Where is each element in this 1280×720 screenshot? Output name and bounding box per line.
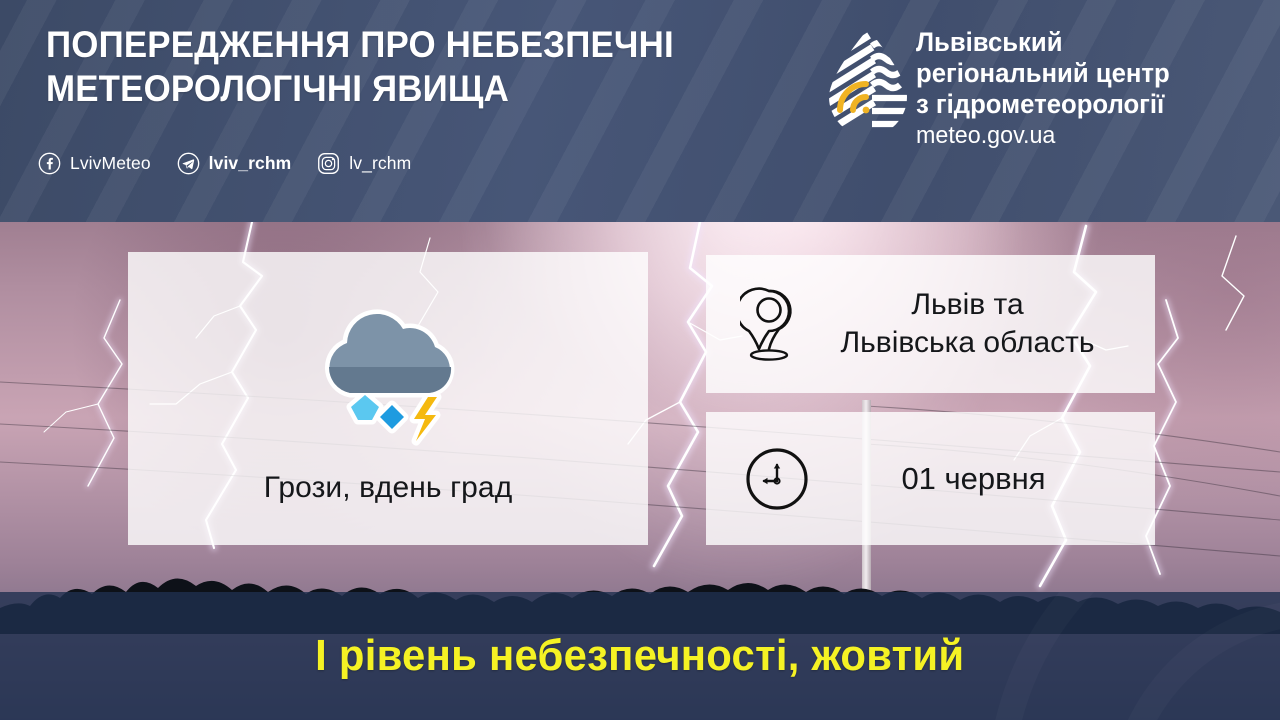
- map-pin-icon: [740, 285, 798, 363]
- date-value: 01 червня: [810, 460, 1137, 498]
- organization-name: Львівський регіональний центр з гідромет…: [916, 27, 1256, 151]
- warning-date: 01 червня: [810, 460, 1155, 498]
- facebook-icon: [38, 152, 61, 175]
- social-handle-telegram: lviv_rchm: [209, 153, 292, 174]
- social-handle-facebook: LvivMeteo: [70, 153, 151, 174]
- social-link-telegram[interactable]: lviv_rchm: [177, 152, 292, 175]
- title-line-2: МЕТЕОРОЛОГІЧНІ ЯВИЩА: [46, 66, 753, 110]
- org-line-3: з гідрометеорології: [916, 89, 1256, 120]
- page-title: ПОПЕРЕДЖЕННЯ ПРО НЕБЕЗПЕЧНІ МЕТЕОРОЛОГІЧ…: [46, 22, 753, 110]
- social-links: LvivMeteo lviv_rchm lv_rchm: [38, 152, 437, 175]
- telegram-icon: [177, 152, 200, 175]
- danger-level-banner: І рівень небезпечності, жовтий: [0, 592, 1280, 720]
- org-line-2: регіональний центр: [916, 58, 1256, 89]
- instagram-icon: [317, 152, 340, 175]
- thunderstorm-hail-icon: [288, 301, 488, 449]
- org-line-1: Львівський: [916, 27, 1256, 58]
- weather-warning-infographic: ПОПЕРЕДЖЕННЯ ПРО НЕБЕЗПЕЧНІ МЕТЕОРОЛОГІЧ…: [0, 0, 1280, 720]
- social-link-facebook[interactable]: LvivMeteo: [38, 152, 151, 175]
- region-name: Львів та Львівська область: [798, 286, 1155, 362]
- date-card: 01 червня: [706, 412, 1155, 545]
- danger-level-text: І рівень небезпечності, жовтий: [315, 631, 964, 681]
- social-link-instagram[interactable]: lv_rchm: [317, 152, 411, 175]
- hydrometeorological-droplet-logo: [822, 26, 914, 138]
- title-line-1: ПОПЕРЕДЖЕННЯ ПРО НЕБЕЗПЕЧНІ: [46, 22, 753, 66]
- clock-icon: [744, 446, 810, 512]
- org-website: meteo.gov.ua: [916, 120, 1256, 151]
- social-handle-instagram: lv_rchm: [349, 153, 411, 174]
- region-line-1: Львів та: [798, 286, 1137, 324]
- hazard-description: Грози, вдень град: [264, 471, 513, 505]
- hazard-card: Грози, вдень град: [128, 252, 648, 545]
- region-line-2: Львівська область: [798, 324, 1137, 362]
- header-band: ПОПЕРЕДЖЕННЯ ПРО НЕБЕЗПЕЧНІ МЕТЕОРОЛОГІЧ…: [0, 0, 1280, 222]
- region-card: Львів та Львівська область: [706, 255, 1155, 393]
